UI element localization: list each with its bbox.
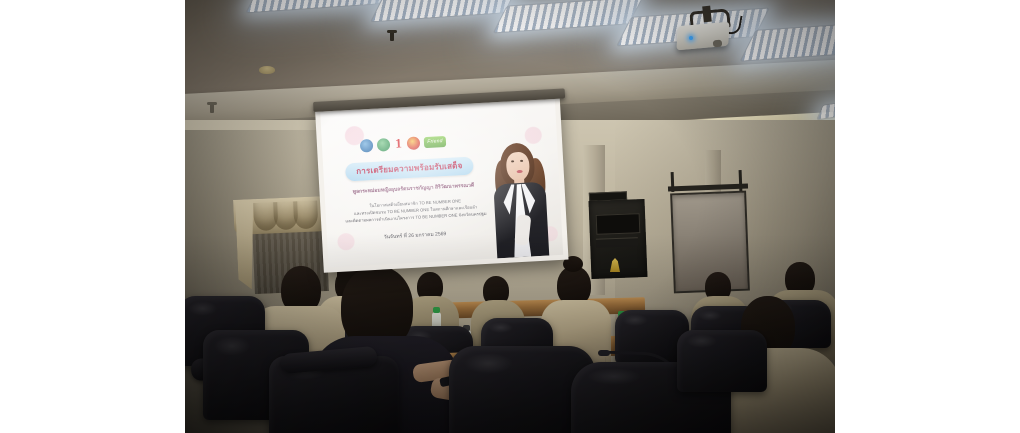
conference-chair[interactable] <box>677 330 767 392</box>
slide-presenter-figure <box>485 135 555 258</box>
conference-room-photo: 1 Friend การเตรียมความพร้อมรับเสด็จ ทูลก… <box>185 0 835 433</box>
slide-title: การเตรียมความพร้อมรับเสด็จ <box>345 157 474 182</box>
slide-body-text: ในโอกาสเสด็จเยี่ยมสมาชิก TO BE NUMBER ON… <box>337 196 494 225</box>
letterbox-right <box>835 0 1020 433</box>
slide-date-line: วันจันทร์ ที่ 26 มกราคม 2569 <box>345 228 485 244</box>
cabinet-lower-panel <box>596 237 638 248</box>
projector-power-led <box>689 36 693 40</box>
slide-subtitle: ทูลกระหม่อมหญิงอุบลรัตนราชกัญญา สิริวัฒน… <box>338 182 488 197</box>
screenshot-canvas: 1 Friend การเตรียมความพร้อมรับเสด็จ ทูลก… <box>0 0 1020 433</box>
projector-mount-pole <box>702 6 712 23</box>
cabinet-screen-panel <box>596 213 641 235</box>
microphone-capsule <box>598 350 610 356</box>
bottle-cap <box>433 307 440 313</box>
ceiling-projector <box>676 22 729 51</box>
public-health-green-emblem-icon <box>377 138 391 152</box>
projection-screen: 1 Friend การเตรียมความพร้อมรับเสด็จ ทูลก… <box>315 96 569 273</box>
smoke-detector-icon <box>259 66 275 74</box>
to-be-number-one-logo-icon: 1 <box>394 136 404 150</box>
provincial-red-emblem-icon <box>407 136 421 150</box>
slide-logo-row: 1 Friend <box>360 134 447 153</box>
sprinkler-head-icon <box>210 104 214 113</box>
letterbox-left <box>0 0 185 433</box>
projector-lens <box>713 40 723 48</box>
sprinkler-head-icon <box>390 32 394 41</box>
ministry-blue-emblem-icon <box>360 138 374 152</box>
presentation-slide: 1 Friend การเตรียมความพร้อมรับเสด็จ ทูลก… <box>320 100 563 267</box>
friend-corner-logo-icon: Friend <box>424 135 447 147</box>
